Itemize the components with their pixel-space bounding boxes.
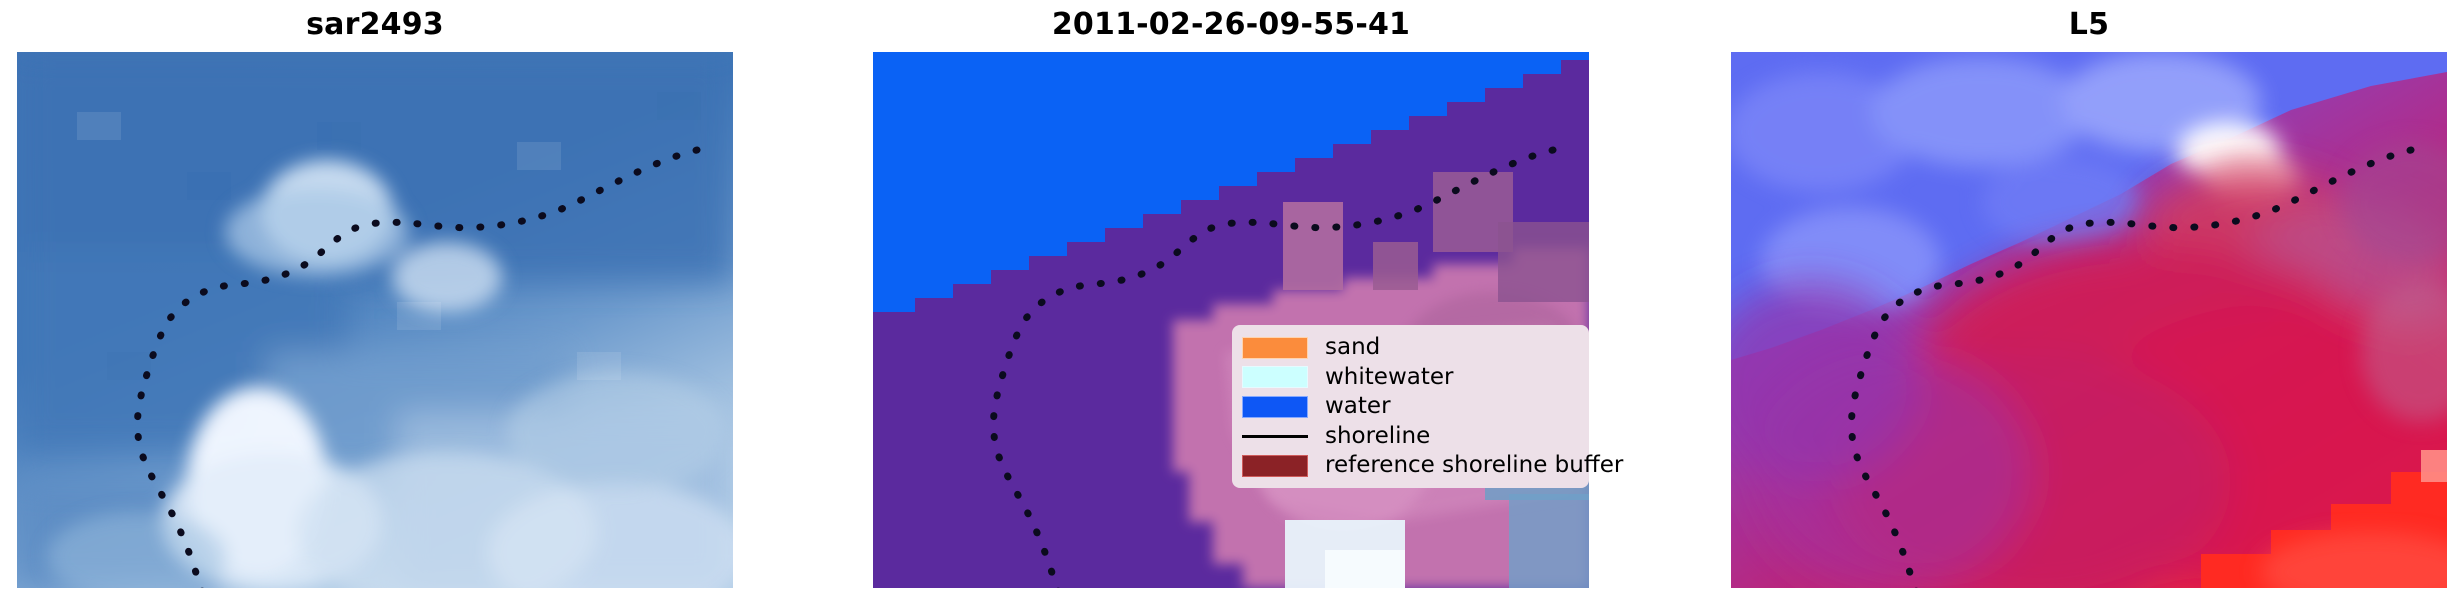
panel-l5: L5 [1731, 52, 2447, 588]
panel-title-l5: L5 [1731, 8, 2447, 42]
shoreline-line-icon [1242, 425, 1308, 447]
legend-label-water: water [1325, 393, 1391, 420]
reference-buffer-swatch-icon [1242, 455, 1308, 477]
panel-title-sar: sar2493 [17, 8, 733, 42]
figure-root: sar2493 [0, 0, 2460, 598]
legend: sand whitewater water shoreline referenc… [1232, 325, 1589, 488]
panel-classification: 2011-02-26-09-55-41 [873, 52, 1589, 588]
panel-sar: sar2493 [17, 52, 733, 588]
legend-item-water: water [1242, 393, 1577, 420]
whitewater-swatch-icon [1242, 366, 1308, 388]
classification-image [873, 52, 1589, 588]
legend-item-reference-shoreline-buffer: reference shoreline buffer [1242, 452, 1577, 479]
legend-item-whitewater: whitewater [1242, 364, 1577, 391]
legend-item-shoreline: shoreline [1242, 423, 1577, 450]
legend-label-whitewater: whitewater [1325, 364, 1453, 391]
legend-label-sand: sand [1325, 334, 1380, 361]
l5-image [1731, 52, 2447, 588]
legend-label-shoreline: shoreline [1325, 423, 1430, 450]
axes-l5 [1731, 52, 2447, 588]
water-swatch-icon [1242, 396, 1308, 418]
sar-image [17, 52, 733, 588]
panel-title-classification: 2011-02-26-09-55-41 [873, 8, 1589, 42]
axes-sar [17, 52, 733, 588]
sand-swatch-icon [1242, 337, 1308, 359]
axes-classification [873, 52, 1589, 588]
legend-item-sand: sand [1242, 334, 1577, 361]
legend-label-reference-shoreline-buffer: reference shoreline buffer [1325, 452, 1623, 479]
